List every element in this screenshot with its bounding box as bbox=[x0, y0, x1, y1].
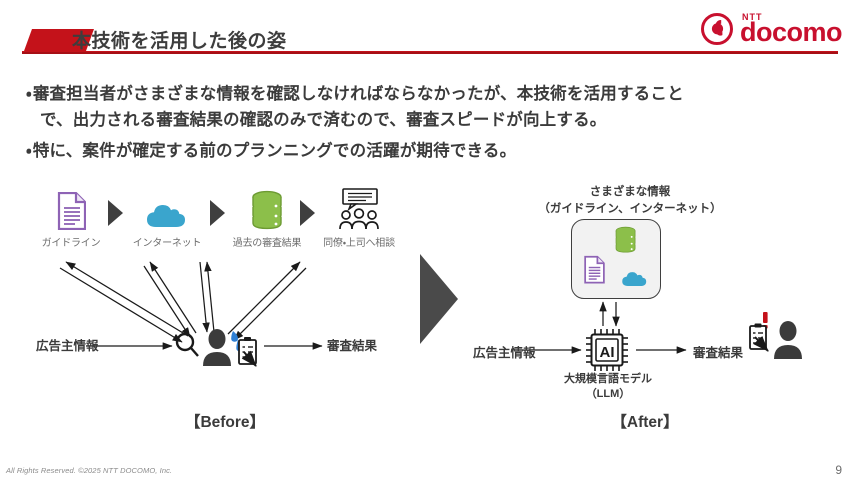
footer-page-number: 9 bbox=[835, 463, 842, 477]
before-output-label: 審査結果 bbox=[327, 335, 377, 354]
docomo-logo: NTT docomo bbox=[701, 12, 842, 46]
bullet-text-1-line2: で、出力される審査結果の確認のみで済むので、審査スピードが向上する。 bbox=[40, 111, 606, 129]
after-infobox-title: さまざまな情報 （ガイドライン、インターネット） bbox=[470, 184, 790, 217]
source-separator-3-icon bbox=[300, 200, 315, 226]
bullet-list: ・審査担当者がさまざまな情報を確認しなければならなかったが、本技術を活用すること… bbox=[26, 82, 838, 165]
source-guideline-label: ガイドライン bbox=[34, 234, 108, 249]
after-output-label: 審査結果 bbox=[693, 342, 743, 361]
diagram-area: ガイドライン インターネット bbox=[0, 186, 860, 436]
bullet-marker-1: ・ bbox=[26, 85, 32, 103]
source-past-results: 過去の審査結果 bbox=[230, 186, 304, 249]
document-icon bbox=[34, 186, 108, 230]
ai-chip-label: AI bbox=[600, 344, 615, 361]
after-input-label: 広告主情報 bbox=[473, 342, 536, 361]
source-internet-label: インターネット bbox=[130, 234, 204, 249]
cloud-icon bbox=[130, 186, 204, 230]
before-caption: 【Before】 bbox=[135, 410, 315, 432]
source-consult: 同僚・上司へ相談 bbox=[322, 186, 396, 249]
bullet-text-2-line1: 特に、案件が確定する前のプランニングでの活躍が期待できる。 bbox=[33, 142, 516, 160]
after-model-label: 大規模言語モデル （LLM） bbox=[530, 372, 686, 403]
footer-copyright: All Rights Reserved. ©2025 NTT DOCOMO, I… bbox=[6, 466, 172, 475]
bullet-item-2: ・特に、案件が確定する前のプランニングでの活躍が期待できる。 bbox=[26, 139, 838, 165]
ai-chip-icon: AI bbox=[585, 328, 629, 372]
docomo-circle-d-mark-icon bbox=[701, 13, 733, 45]
after-info-box bbox=[571, 219, 661, 299]
slide: 本技術を活用した後の姿 NTT docomo ・審査担当者がさまざまな情報を確認… bbox=[0, 0, 860, 483]
ntt-text: NTT bbox=[742, 12, 763, 22]
consult-people-icon bbox=[322, 186, 396, 230]
slide-header: 本技術を活用した後の姿 NTT docomo bbox=[0, 0, 860, 58]
docomo-wordmark: NTT docomo bbox=[740, 13, 842, 45]
transition-arrow-icon bbox=[420, 254, 458, 344]
after-infobox-title-line1: さまざまな情報 bbox=[470, 184, 790, 201]
after-caption: 【After】 bbox=[555, 410, 735, 432]
source-guideline: ガイドライン bbox=[34, 186, 108, 249]
bullet-marker-2: ・ bbox=[26, 142, 32, 160]
source-separator-1-icon bbox=[108, 200, 123, 226]
page-title: 本技術を活用した後の姿 bbox=[72, 26, 287, 53]
after-model-label-line1: 大規模言語モデル bbox=[530, 372, 686, 387]
after-infobox-title-line2: （ガイドライン、インターネット） bbox=[470, 201, 790, 218]
source-consult-label: 同僚・上司へ相談 bbox=[322, 234, 396, 249]
reviewer-person-with-magnifier-icon bbox=[172, 326, 268, 366]
source-separator-2-icon bbox=[210, 200, 225, 226]
before-source-row: ガイドライン インターネット bbox=[34, 186, 394, 256]
source-internet: インターネット bbox=[130, 186, 204, 249]
bullet-text-1-line1: 審査担当者がさまざまな情報を確認しなければならなかったが、本技術を活用すること bbox=[33, 85, 684, 103]
reviewer-person-with-clipboard-icon bbox=[745, 312, 807, 362]
after-model-label-line2: （LLM） bbox=[530, 387, 686, 402]
database-icon bbox=[230, 186, 304, 230]
source-past-results-label: 過去の審査結果 bbox=[230, 234, 304, 249]
before-input-label: 広告主情報 bbox=[36, 335, 99, 354]
bullet-item-1: ・審査担当者がさまざまな情報を確認しなければならなかったが、本技術を活用すること… bbox=[26, 82, 838, 133]
